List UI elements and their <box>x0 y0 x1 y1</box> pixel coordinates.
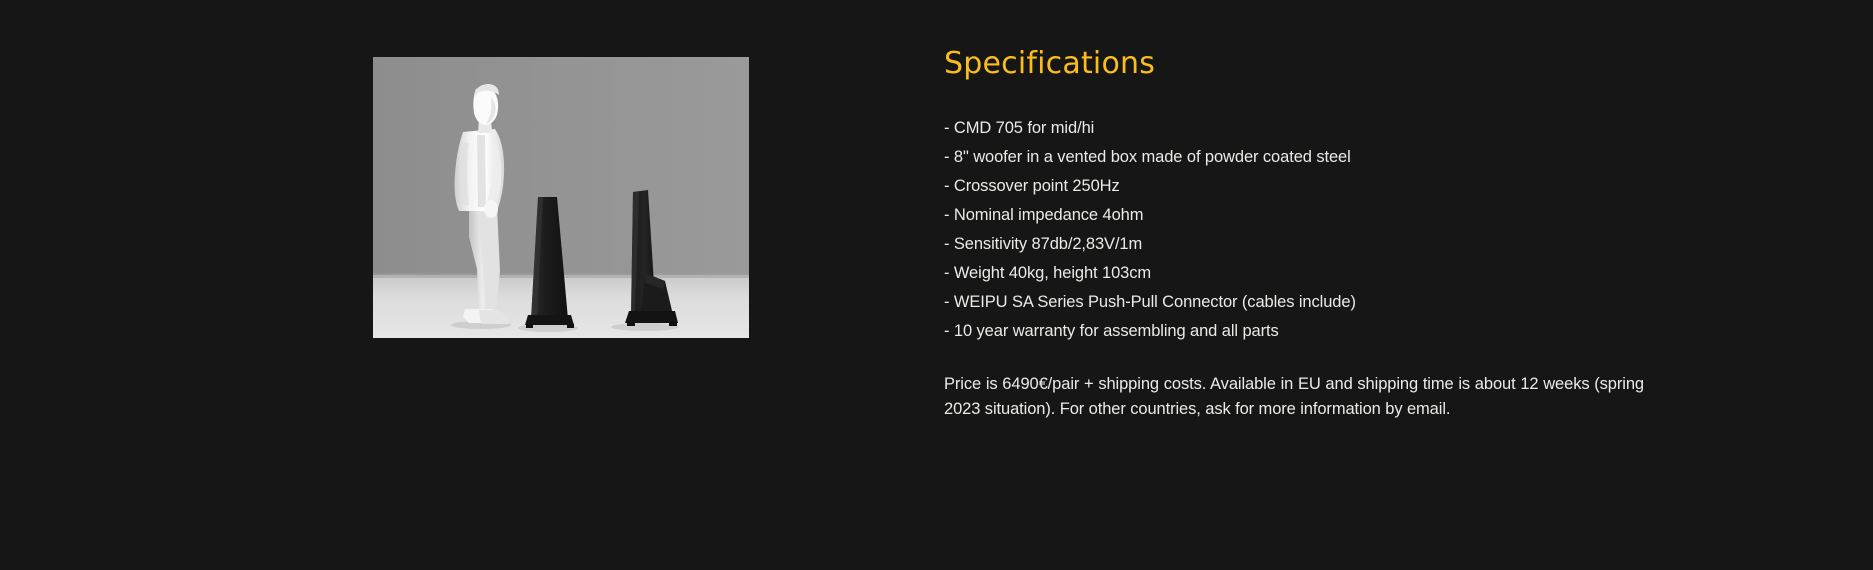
spec-item: - CMD 705 for mid/hi <box>944 114 1644 143</box>
page-root: Specifications - CMD 705 for mid/hi - 8"… <box>0 0 1873 570</box>
product-photo <box>373 57 749 338</box>
spec-item: - Crossover point 250Hz <box>944 172 1644 201</box>
specifications-list: - CMD 705 for mid/hi - 8" woofer in a ve… <box>944 114 1644 346</box>
price-availability-paragraph: Price is 6490€/pair + shipping costs. Av… <box>944 372 1644 422</box>
spec-item: - Sensitivity 87db/2,83V/1m <box>944 230 1644 259</box>
spec-item: - 8" woofer in a vented box made of powd… <box>944 143 1644 172</box>
specifications-section: Specifications - CMD 705 for mid/hi - 8"… <box>944 46 1644 422</box>
spec-item: - 10 year warranty for assembling and al… <box>944 317 1644 346</box>
spec-item: - Nominal impedance 4ohm <box>944 201 1644 230</box>
product-photo-image <box>373 57 749 338</box>
spec-item: - Weight 40kg, height 103cm <box>944 259 1644 288</box>
spec-item: - WEIPU SA Series Push-Pull Connector (c… <box>944 288 1644 317</box>
specifications-title: Specifications <box>944 46 1644 82</box>
